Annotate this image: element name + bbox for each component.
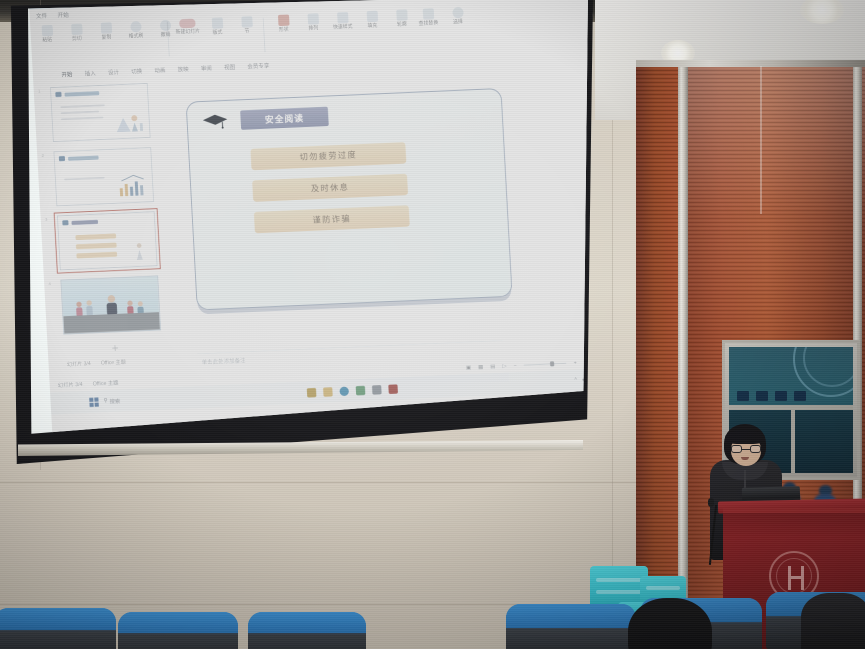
find-replace-label: 查找替换 <box>419 21 439 27</box>
tray-chevron-icon[interactable]: ^ <box>574 378 577 384</box>
thumbnail-1[interactable]: 1 <box>50 83 155 142</box>
select-label: 选择 <box>453 20 463 26</box>
format-painter-button[interactable]: 格式刷 <box>123 21 148 41</box>
layout-label: 版式 <box>213 31 223 37</box>
new-slide-label: 新建幻灯片 <box>176 30 201 37</box>
thumbnail-preview-selected[interactable] <box>57 211 158 270</box>
thumbnail-number: 4 <box>48 282 51 287</box>
thumb-orange-bar <box>76 252 117 258</box>
auditorium-scene: 安全教育主题班会.pptx 新建标签页 文件 开始 <box>0 0 865 649</box>
thumbnail-4[interactable]: 4 <box>60 275 165 334</box>
auditorium-seat <box>0 608 116 649</box>
folder-icon[interactable] <box>323 387 333 397</box>
tab-design[interactable]: 设计 <box>108 68 119 77</box>
paste-label: 粘贴 <box>42 38 52 44</box>
sorter-view-icon[interactable]: ▦ <box>478 364 483 370</box>
menu-item-home[interactable]: 开始 <box>57 10 69 19</box>
zoom-slider[interactable] <box>524 362 567 365</box>
thumb-illustration-icon <box>113 109 145 135</box>
auditorium-seat <box>506 604 636 649</box>
notepad-icon[interactable] <box>372 385 382 395</box>
tab-animation[interactable]: 动画 <box>154 66 165 75</box>
thumb-text-line <box>60 104 105 108</box>
crest-monogram <box>788 566 804 590</box>
thumb-logo-icon <box>59 156 65 161</box>
zoom-level[interactable]: 68% <box>584 359 588 366</box>
graduation-cap-icon <box>202 113 229 130</box>
thumb-chart-icon <box>117 173 149 199</box>
projection-screen-surface[interactable]: 安全教育主题班会.pptx 新建标签页 文件 开始 <box>28 0 588 445</box>
outline-button[interactable]: 轮廓 <box>389 9 414 29</box>
tab-view[interactable]: 视图 <box>224 63 235 72</box>
attendee-shoulder <box>801 593 865 649</box>
current-slide[interactable]: 安全阅读 切勿疲劳过度 及时休息 谨防诈骗 <box>185 88 512 311</box>
select-icon <box>452 7 464 19</box>
fill-label: 填充 <box>367 24 377 30</box>
theme-label: Office 主题 <box>101 358 126 366</box>
ribbon-group-editing[interactable]: 查找替换 选择 <box>415 7 470 28</box>
shapes-icon <box>277 14 289 26</box>
tab-insert[interactable]: 插入 <box>84 69 95 78</box>
thumbnail-3[interactable]: 3 <box>57 211 162 270</box>
tray-network-icon[interactable]: ● <box>582 377 585 383</box>
new-slide-icon <box>179 19 196 29</box>
slideshow-icon[interactable]: ▷ <box>502 363 506 369</box>
zoom-in-button[interactable]: + <box>574 360 577 366</box>
quick-style-label: 快速样式 <box>333 25 353 31</box>
tab-member[interactable]: 会员专享 <box>247 61 269 70</box>
start-button-icon[interactable] <box>89 397 99 407</box>
slide-navigation-pane[interactable]: 1 <box>33 76 171 379</box>
find-replace-button[interactable]: 查找替换 <box>415 8 440 28</box>
wall-seam <box>0 482 660 483</box>
thumbnail-2[interactable]: 2 <box>53 147 158 206</box>
cut-button[interactable]: 剪切 <box>64 23 89 43</box>
search-icon: ⚲ <box>103 398 107 404</box>
thumbnail-preview[interactable] <box>50 83 151 142</box>
slide-bar-2[interactable]: 及时休息 <box>252 174 408 202</box>
wps-office-icon[interactable] <box>388 384 398 394</box>
normal-view-icon[interactable]: ▣ <box>466 364 471 370</box>
thumb-footer-band <box>63 312 160 333</box>
undo-icon <box>159 20 171 32</box>
thumb-logo-icon <box>55 92 61 97</box>
tab-review[interactable]: 审阅 <box>201 64 212 73</box>
new-slide-button[interactable]: 新建幻灯片 <box>175 18 200 36</box>
search-placeholder: 搜索 <box>109 397 120 405</box>
wall-trim-top <box>636 60 865 67</box>
arrange-button[interactable]: 排列 <box>300 13 325 33</box>
thumbnail-number: 3 <box>45 218 48 223</box>
ribbon-group-slides[interactable]: 新建幻灯片 版式 节 <box>175 16 260 39</box>
copy-icon <box>100 22 112 34</box>
wps-presentation-window[interactable]: 安全教育主题班会.pptx 新建标签页 文件 开始 <box>28 0 588 445</box>
thumb-title-bar <box>68 155 99 160</box>
tab-home[interactable]: 开始 <box>61 70 72 79</box>
ribbon-group-drawing[interactable]: 形状 排列 快速样式 填充 <box>271 9 415 34</box>
slide-page-indicator: 幻灯片 3/4 <box>67 360 91 368</box>
thumb-orange-bar <box>75 233 116 239</box>
taskbar-apps[interactable] <box>307 384 398 397</box>
reading-view-icon[interactable]: ▤ <box>490 363 495 369</box>
slide-bar-list: 切勿疲劳过度 及时休息 谨防诈骗 <box>250 142 409 233</box>
presenter-fringe <box>725 430 765 444</box>
hanging-wire <box>760 66 762 214</box>
copy-button[interactable]: 复制 <box>93 22 118 42</box>
thumbnail-number: 1 <box>38 90 41 95</box>
paste-button[interactable]: 粘贴 <box>34 24 59 44</box>
arrange-label: 排列 <box>308 26 318 32</box>
shapes-label: 形状 <box>279 28 289 34</box>
slide-bar-3[interactable]: 谨防诈骗 <box>254 205 410 233</box>
microphone-icon <box>708 498 714 507</box>
taskbar-tray[interactable]: ^ ● ● 18:42 <box>574 376 588 384</box>
format-painter-label: 格式刷 <box>129 34 144 40</box>
notes-divider <box>197 340 503 354</box>
ribbon-group-clipboard[interactable]: 粘贴 剪切 复制 格式刷 <box>34 19 178 44</box>
thumb-orange-bar <box>76 242 117 248</box>
thumbnail-preview[interactable] <box>53 147 154 206</box>
ribbon-separator <box>263 18 266 53</box>
status-theme: Office 主题 <box>93 379 119 387</box>
menu-item-file[interactable]: 文件 <box>36 11 48 20</box>
section-label: 节 <box>245 29 250 35</box>
fill-button[interactable]: 填充 <box>359 10 384 30</box>
app-main-area: 1 <box>33 57 588 379</box>
thumb-text-line <box>64 177 105 180</box>
nav-pane-footer: 幻灯片 3/4 Office 主题 <box>65 357 167 369</box>
slide-title[interactable]: 安全阅读 <box>240 107 329 130</box>
format-painter-icon <box>130 21 142 33</box>
thumb-text-line <box>61 116 104 119</box>
file-explorer-icon[interactable] <box>307 387 317 397</box>
auditorium-seat <box>118 612 238 649</box>
thumb-title-bar <box>64 91 99 97</box>
notes-placeholder[interactable]: 单击此处添加备注 <box>201 356 245 366</box>
paste-icon <box>41 25 53 37</box>
undo-label: 撤销 <box>161 33 171 39</box>
thumb-logo-icon <box>62 220 68 225</box>
select-button[interactable]: 选择 <box>445 7 470 27</box>
wall-trim <box>678 62 688 649</box>
thumbnail-number: 2 <box>41 154 44 159</box>
glasses-icon <box>731 445 761 453</box>
cut-label: 剪切 <box>72 37 82 43</box>
taskbar-search[interactable]: ⚲ 搜索 <box>103 397 120 405</box>
thumb-text-line <box>60 111 99 114</box>
status-page-indicator: 幻灯片 3/4 <box>58 381 83 389</box>
shapes-button[interactable]: 形状 <box>271 14 296 34</box>
fill-icon <box>366 11 378 23</box>
find-replace-icon <box>422 8 434 20</box>
outline-icon <box>396 9 408 21</box>
tab-transition[interactable]: 切换 <box>131 67 142 76</box>
slide-bar-1[interactable]: 切勿疲劳过度 <box>250 142 406 170</box>
edge-browser-icon[interactable] <box>339 386 349 396</box>
thumb-title-bar <box>71 220 98 225</box>
outline-label: 轮廓 <box>397 23 407 29</box>
add-slide-button[interactable]: + <box>64 339 167 356</box>
thumb-figure-icon <box>120 237 152 263</box>
quick-style-icon <box>336 12 348 24</box>
cut-icon <box>70 23 82 35</box>
section-button[interactable]: 节 <box>234 16 259 36</box>
chat-icon[interactable] <box>356 385 366 395</box>
copy-label: 复制 <box>101 35 111 41</box>
layout-button[interactable]: 版式 <box>204 17 229 37</box>
slide-editing-pane[interactable]: 安全阅读 切勿疲劳过度 及时休息 谨防诈骗 单击此处添加备注 <box>156 57 588 374</box>
arrange-icon <box>307 13 319 25</box>
layout-icon <box>211 17 223 29</box>
quick-style-button[interactable]: 快速样式 <box>330 12 355 32</box>
zoom-out-button[interactable]: − <box>513 362 516 368</box>
tab-slideshow[interactable]: 放映 <box>177 65 188 74</box>
projection-screen-frame: 安全教育主题班会.pptx 新建标签页 文件 开始 <box>8 0 593 464</box>
section-icon <box>241 16 253 28</box>
auditorium-seat <box>248 612 366 649</box>
thumbnail-preview[interactable] <box>60 275 161 334</box>
window-signage <box>737 391 806 401</box>
taskbar-left[interactable]: ⚲ 搜索 <box>50 396 120 408</box>
